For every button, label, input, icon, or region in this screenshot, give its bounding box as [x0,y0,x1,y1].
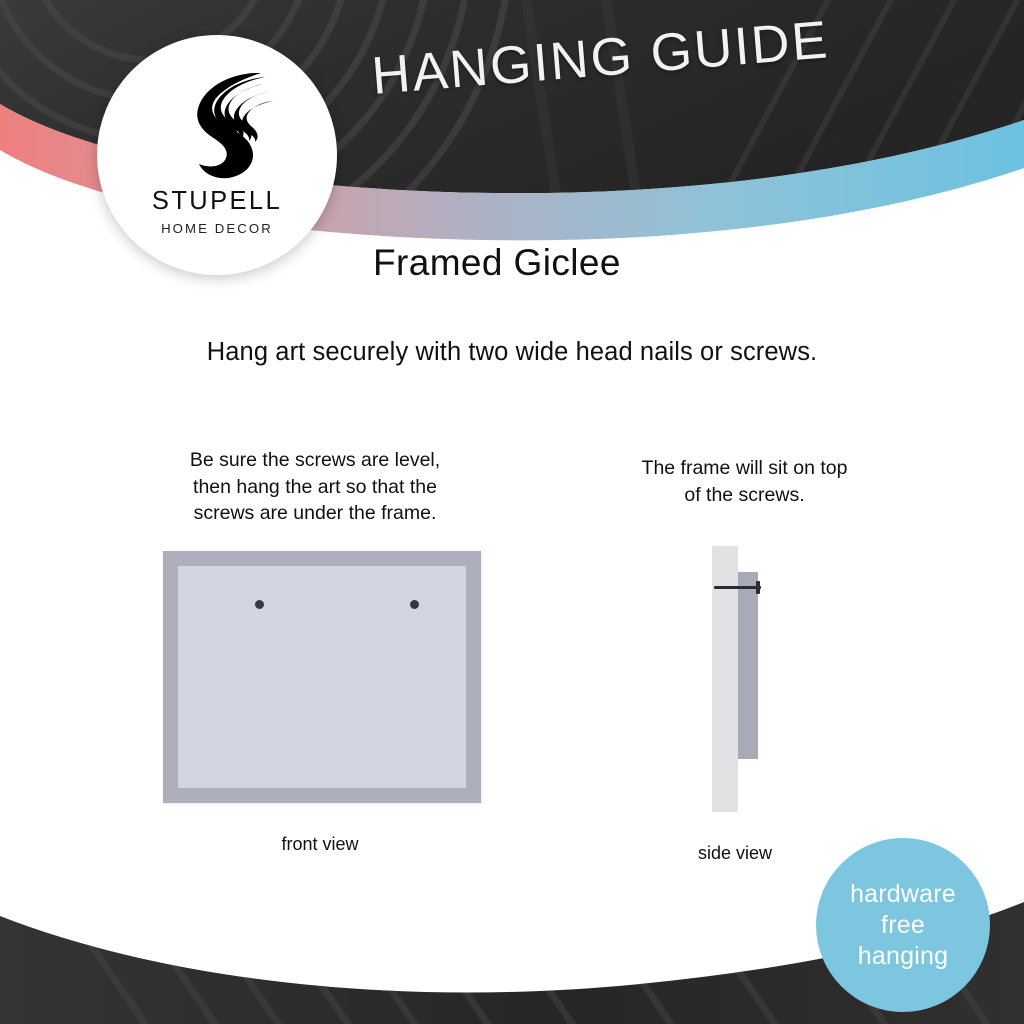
screw-dot-left [255,600,264,609]
screw-dot-right [410,600,419,609]
side-view-diagram [700,546,790,812]
badge-line-3: hanging [858,941,948,972]
badge-line-2: free [881,910,925,941]
side-view-frame [738,572,758,759]
brand-tagline: HOME DECOR [161,222,273,235]
page-title: HANGING GUIDE [370,4,893,107]
hanging-guide-page: STUPELL HOME DECOR HANGING GUIDE Framed … [0,0,1024,1024]
front-view-mat [178,566,466,788]
front-caption-line-3: screws are under the frame. [155,500,475,527]
nail-head-icon [756,581,760,594]
stupell-swoosh-logo-icon [157,63,277,185]
front-caption-line-1: Be sure the screws are level, [155,447,475,474]
brand-wordmark: STUPELL [152,189,282,215]
hardware-free-badge: hardware free hanging [816,838,990,1012]
nail-icon [714,586,761,589]
front-caption-line-2: then hang the art so that the [155,474,475,501]
brand-logo-badge: STUPELL HOME DECOR [97,35,337,275]
side-caption-line-1: The frame will sit on top [592,455,897,482]
front-view-caption: Be sure the screws are level, then hang … [155,447,475,527]
side-view-caption: The frame will sit on top of the screws. [592,455,897,508]
product-type-title: Framed Giclee [373,242,621,284]
lead-instruction: Hang art securely with two wide head nai… [0,338,1024,367]
side-view-label: side view [640,843,830,864]
front-view-label: front view [190,834,450,855]
front-view-diagram [163,551,481,803]
badge-line-1: hardware [850,879,956,910]
side-caption-line-2: of the screws. [592,482,897,509]
